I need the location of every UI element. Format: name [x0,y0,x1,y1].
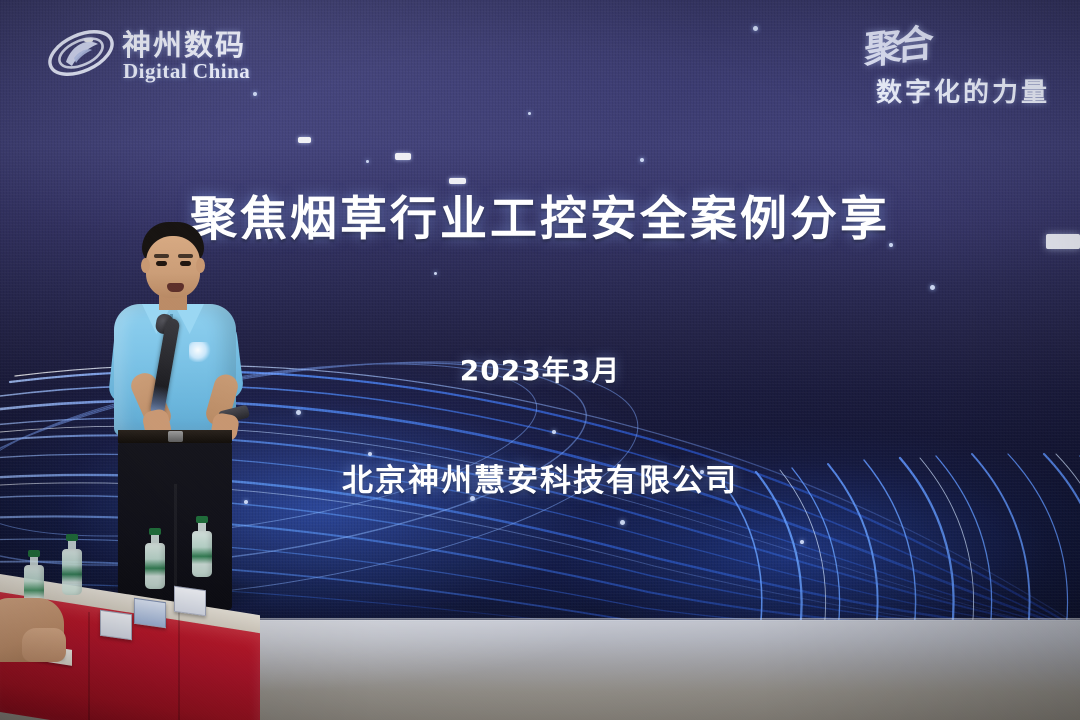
name-card [134,598,166,628]
speaker-belt-buckle [168,431,183,442]
particle-dot [620,520,625,525]
particle-dot [366,160,369,163]
speaker-eye-left [156,261,167,266]
bottle-cap [66,534,78,541]
event-slogan: 聚合 数字化的力量 [786,16,1056,112]
bottle-neck [198,523,206,531]
speaker-ear-left [141,258,150,273]
shirt-badge-icon [189,342,211,362]
speaker-brow-right [178,254,193,258]
water-bottle [192,516,212,577]
logo-name-en: Digital China [123,59,250,84]
bottle-cap [149,528,161,535]
particle-dot [753,26,758,31]
water-bottle [62,534,82,595]
particle-dot [800,540,804,544]
particle-dot [640,158,644,162]
water-bottle [145,528,165,589]
particle-mote [298,137,311,143]
bottle-neck [151,535,159,543]
bottle-cap [28,550,40,557]
conference-stage-photo: 神州数码 Digital China 聚合 数字化的力量 聚焦烟草行业工控安全案… [0,0,1080,720]
name-card [174,586,206,616]
digital-china-logo: 神州数码 Digital China [44,18,274,94]
slogan-subtitle: 数字化的力量 [876,72,1050,109]
particle-dot [552,430,556,434]
bottle-cap [196,516,208,523]
speaker-eye-right [180,261,191,266]
speaker-brow-left [154,254,169,258]
spiral-swirl-icon [44,22,118,84]
slogan-brush-text: 聚合 [864,12,929,75]
name-card [100,610,132,640]
logo-name-cn: 神州数码 [122,22,246,64]
table-skirt-fold [178,612,180,720]
bottle-body [62,549,82,595]
screen-edge-marker [1046,234,1080,249]
bottle-neck [68,541,76,549]
bottle-body [145,543,165,589]
audience-member-hand [22,628,66,662]
particle-dot [296,410,301,415]
particle-dot [930,285,935,290]
particle-dot [528,112,531,115]
bottle-neck [30,557,38,565]
particle-dot [434,272,437,275]
table-skirt-fold [88,612,90,720]
bottle-body [192,531,212,577]
speaker-ear-right [196,258,205,273]
speaker-mouth [167,283,184,292]
particle-mote [395,153,411,160]
